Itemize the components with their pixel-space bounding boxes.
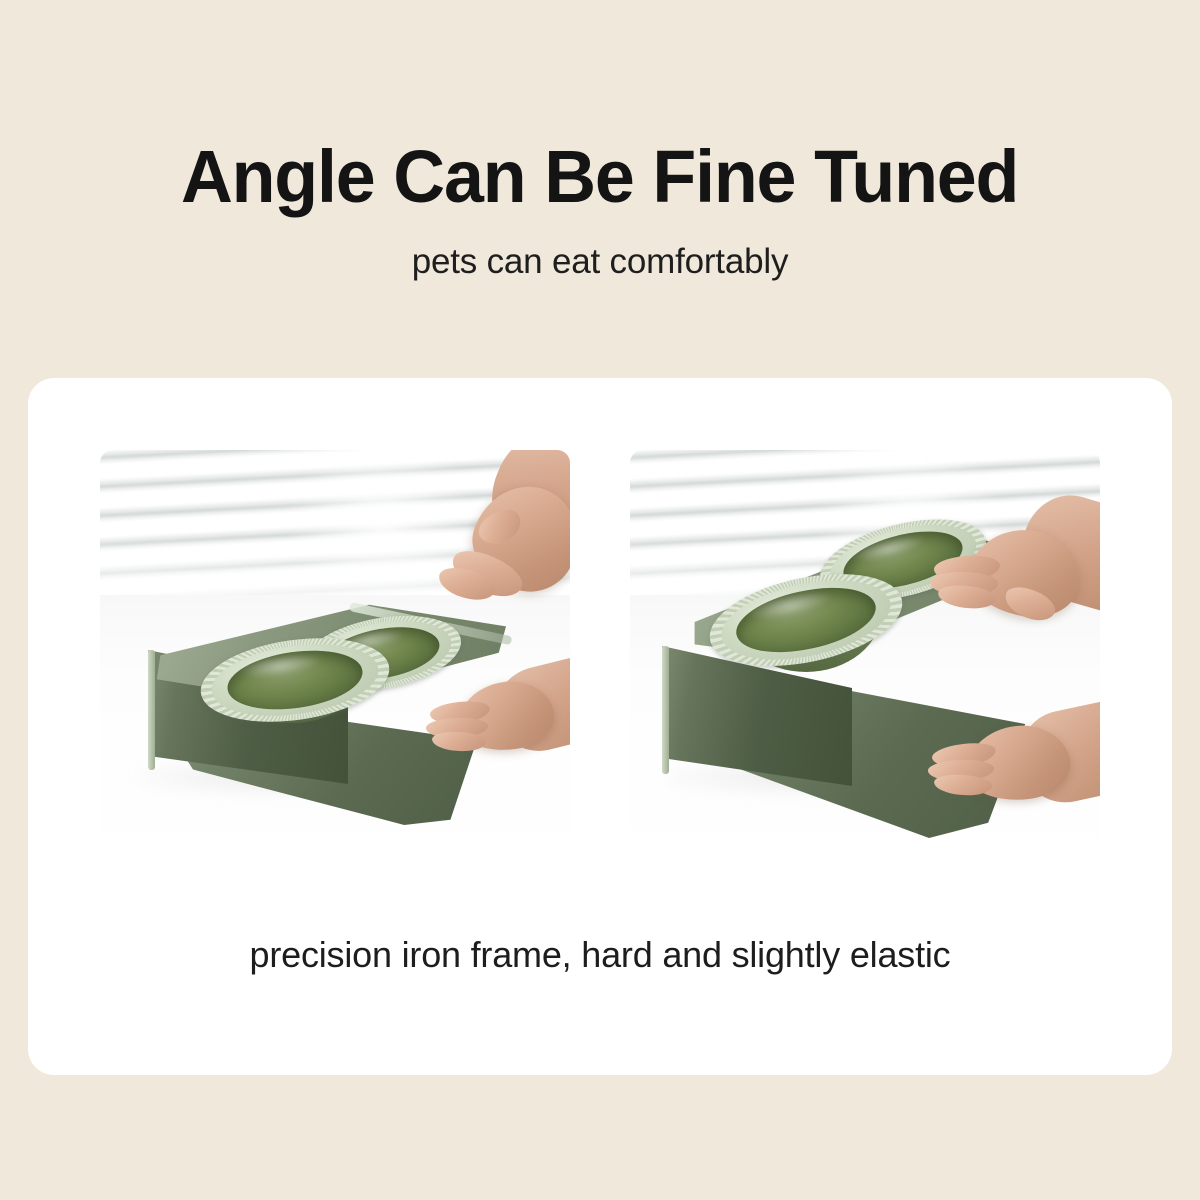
right-photo — [630, 450, 1100, 875]
stand-wall-edge — [148, 650, 155, 770]
hand-upper — [432, 452, 570, 652]
photo-pair — [100, 450, 1100, 875]
content-card: precision iron frame, hard and slightly … — [28, 378, 1172, 1075]
hand-upper — [930, 506, 1100, 656]
page-subtitle: pets can eat comfortably — [412, 242, 789, 282]
left-photo — [100, 450, 570, 875]
hand-lower — [928, 704, 1100, 834]
header-block: Angle Can Be Fine Tuned pets can eat com… — [0, 0, 1200, 378]
hand-lower — [424, 662, 570, 782]
stand-wall-edge — [662, 646, 669, 774]
page-title: Angle Can Be Fine Tuned — [181, 140, 1018, 214]
card-caption: precision iron frame, hard and slightly … — [28, 934, 1172, 976]
